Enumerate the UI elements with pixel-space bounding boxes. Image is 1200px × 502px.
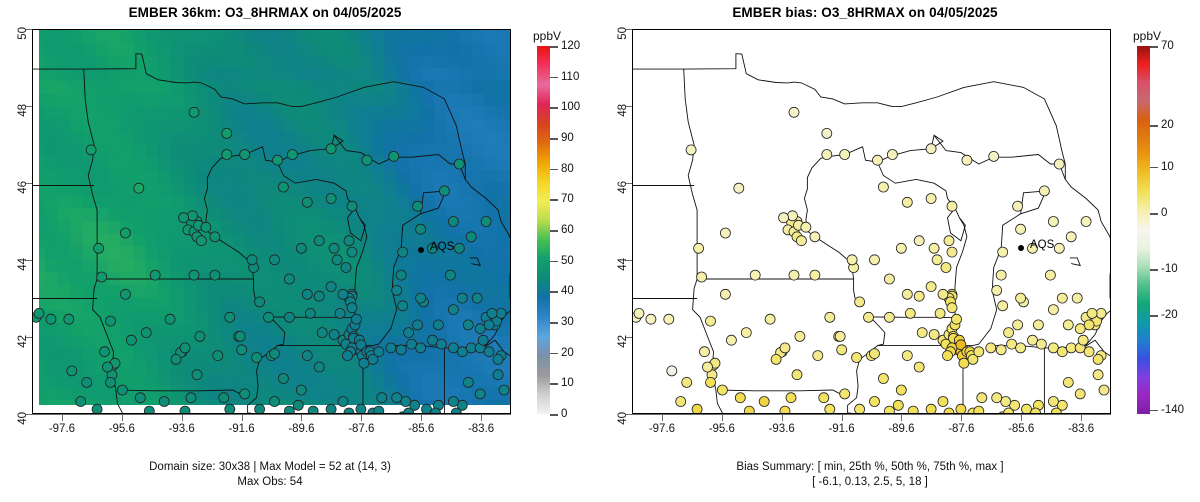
right-colorbar: ppbV 7020100-10-20-140 <box>1133 29 1200 414</box>
colorbar-tick-label: 20 <box>1161 119 1174 131</box>
aqs-station-marker <box>344 408 354 413</box>
aqs-station-marker <box>134 183 144 193</box>
x-tick-label: -91.6 <box>828 423 854 435</box>
aqs-station-marker <box>225 404 235 413</box>
x-tick-label: -83.6 <box>468 423 494 435</box>
aqs-station-marker <box>448 217 458 227</box>
panel-model-bias: EMBER bias: O3_8HRMAX on 04/05/2025 4042… <box>600 0 1200 502</box>
state-boundary <box>270 317 285 346</box>
aqs-station-marker <box>210 270 220 280</box>
right-panel-title: EMBER bias: O3_8HRMAX on 04/05/2025 <box>600 5 1130 20</box>
colorbar-tick <box>1150 46 1158 48</box>
aqs-station-marker <box>864 312 874 322</box>
aqs-station-marker <box>825 312 835 322</box>
aqs-station-marker <box>1039 186 1049 196</box>
aqs-station-marker <box>457 293 467 303</box>
aqs-station-marker <box>686 145 696 155</box>
aqs-station-marker <box>703 362 713 372</box>
aqs-station-marker <box>487 308 497 318</box>
aqs-station-marker <box>398 247 408 257</box>
aqs-station-marker <box>64 314 74 324</box>
aqs-station-marker <box>422 404 432 413</box>
aqs-station-marker <box>1057 293 1067 303</box>
aqs-station-marker <box>1028 335 1038 345</box>
right-aqs-legend-dot <box>1018 245 1024 251</box>
y-tick-label: 44 <box>617 258 629 271</box>
aqs-station-marker <box>947 201 957 211</box>
x-tick-label: -89.6 <box>888 423 914 435</box>
x-tick-label: -89.6 <box>288 423 314 435</box>
aqs-station-marker <box>1084 347 1094 357</box>
aqs-station-marker <box>801 222 811 232</box>
aqs-station-marker <box>932 255 942 265</box>
aqs-station-marker <box>219 393 229 403</box>
x-tick-label: -91.6 <box>228 423 254 435</box>
aqs-station-marker <box>222 128 232 138</box>
aqs-station-marker <box>835 331 845 341</box>
aqs-station-marker <box>974 406 984 413</box>
right-plot-area: AQS <box>632 29 1111 414</box>
aqs-station-marker <box>499 385 509 395</box>
aqs-station-marker <box>416 343 426 353</box>
aqs-station-marker <box>873 155 883 165</box>
colorbar-tick-label: 110 <box>561 71 579 83</box>
aqs-station-marker <box>314 362 324 372</box>
aqs-station-marker <box>448 343 458 353</box>
aqs-station-marker <box>840 389 850 399</box>
aqs-station-marker <box>235 331 245 341</box>
left-plot-area: AQS <box>32 29 511 414</box>
aqs-station-marker <box>92 404 102 413</box>
aqs-station-marker <box>302 351 312 361</box>
aqs-station-marker <box>878 374 888 384</box>
aqs-station-marker <box>825 404 835 413</box>
y-tick-label: 42 <box>617 335 629 348</box>
x-tick-label: -95.6 <box>109 423 135 435</box>
aqs-station-marker <box>493 354 503 364</box>
aqs-station-marker <box>347 303 357 313</box>
aqs-station-marker <box>255 404 265 413</box>
aqs-station-marker <box>789 270 799 280</box>
y-tick-label: 44 <box>17 258 29 271</box>
y-tick-label: 50 <box>617 27 629 40</box>
aqs-station-marker <box>466 343 476 353</box>
aqs-station-marker <box>284 274 294 284</box>
aqs-station-marker <box>926 282 936 292</box>
aqs-station-marker <box>352 314 362 324</box>
aqs-station-marker <box>247 255 257 265</box>
aqs-station-marker <box>634 308 644 318</box>
x-tick <box>301 414 302 421</box>
aqs-station-marker <box>100 347 110 357</box>
colorbar-tick <box>550 46 558 48</box>
aqs-station-marker <box>914 362 924 372</box>
aqs-station-marker <box>908 406 918 413</box>
aqs-station-marker <box>1081 217 1091 227</box>
aqs-station-marker <box>974 347 984 357</box>
colorbar-tick-label: -20 <box>1161 309 1178 321</box>
aqs-station-marker <box>237 345 247 355</box>
aqs-station-marker <box>796 236 806 246</box>
left-aqs-legend-label: AQS <box>430 241 454 253</box>
aqs-station-marker <box>855 297 865 307</box>
colorbar-tick-label: 10 <box>561 377 574 389</box>
aqs-station-marker <box>120 228 130 238</box>
aqs-station-marker <box>941 263 951 273</box>
aqs-station-marker <box>786 393 796 403</box>
x-tick-label: -93.6 <box>169 423 195 435</box>
aqs-station-marker <box>771 354 781 364</box>
colorbar-tick-label: 30 <box>561 316 574 328</box>
aqs-station-marker <box>1075 389 1085 399</box>
left-colorbar-gradient <box>537 46 550 414</box>
aqs-station-marker <box>210 232 220 242</box>
x-tick <box>842 414 843 421</box>
aqs-station-marker <box>448 305 458 315</box>
aqs-station-marker <box>720 289 730 299</box>
aqs-station-marker <box>1013 201 1023 211</box>
right-aqs-legend-label: AQS <box>1030 239 1054 251</box>
aqs-station-marker <box>902 289 912 299</box>
aqs-station-marker <box>436 339 446 349</box>
right-x-axis: -97.6-95.6-93.6-91.6-89.6-87.6-85.6-83.6 <box>632 414 1111 448</box>
aqs-station-marker <box>884 406 894 413</box>
aqs-station-marker <box>884 274 894 284</box>
aqs-station-marker <box>264 312 274 322</box>
aqs-station-marker <box>837 345 847 355</box>
aqs-station-marker <box>302 197 312 207</box>
aqs-station-marker <box>189 107 199 117</box>
x-tick-label: -83.6 <box>1068 423 1094 435</box>
aqs-station-marker <box>326 194 336 204</box>
aqs-station-marker <box>457 347 467 357</box>
aqs-station-marker <box>296 385 306 395</box>
aqs-station-marker <box>1016 224 1026 234</box>
aqs-station-marker <box>293 400 303 410</box>
aqs-station-marker <box>213 351 223 361</box>
aqs-station-marker <box>150 270 160 280</box>
colorbar-tick <box>550 230 558 232</box>
aqs-station-marker <box>392 285 402 295</box>
aqs-station-marker <box>428 335 438 345</box>
aqs-station-marker <box>287 150 297 160</box>
right-colorbar-ticks: 7020100-10-20-140 <box>1150 46 1199 414</box>
aqs-station-marker <box>870 397 880 407</box>
aqs-station-marker <box>463 320 473 330</box>
aqs-station-marker <box>308 406 318 413</box>
x-tick <box>1021 414 1022 421</box>
aqs-station-marker <box>914 291 924 301</box>
aqs-station-marker <box>314 236 324 246</box>
aqs-station-marker <box>893 400 903 410</box>
left-colorbar-unit: ppbV <box>533 29 561 43</box>
x-tick <box>122 414 123 421</box>
x-tick <box>182 414 183 421</box>
aqs-station-marker <box>326 404 336 413</box>
aqs-station-marker <box>144 406 154 413</box>
aqs-station-marker <box>1075 324 1085 334</box>
aqs-station-marker <box>475 389 485 399</box>
aqs-station-marker <box>1036 339 1046 349</box>
aqs-station-marker <box>329 330 339 340</box>
aqs-station-marker <box>314 291 324 301</box>
aqs-station-marker <box>810 270 820 280</box>
aqs-station-marker <box>338 289 348 299</box>
aqs-station-marker <box>926 144 936 154</box>
colorbar-tick-label: 70 <box>561 193 574 205</box>
aqs-station-marker <box>1045 270 1055 280</box>
colorbar-tick-label: 0 <box>561 408 567 420</box>
aqs-station-marker <box>386 343 396 353</box>
y-tick-label: 40 <box>17 412 29 425</box>
colorbar-tick <box>550 261 558 263</box>
aqs-station-marker <box>938 397 948 407</box>
aqs-station-marker <box>225 312 235 322</box>
aqs-station-marker <box>106 316 116 326</box>
aqs-station-marker <box>813 351 823 361</box>
colorbar-tick-label: -140 <box>1161 404 1184 416</box>
aqs-station-marker <box>496 308 506 318</box>
aqs-station-marker <box>998 301 1008 311</box>
aqs-station-marker <box>1063 377 1073 387</box>
aqs-station-marker <box>433 320 443 330</box>
aqs-station-marker <box>94 243 104 253</box>
aqs-station-marker <box>935 308 945 318</box>
aqs-station-marker <box>720 228 730 238</box>
aqs-station-marker <box>996 270 1006 280</box>
aqs-station-marker <box>959 358 969 368</box>
aqs-station-marker <box>305 308 315 318</box>
aqs-station-marker <box>759 397 769 407</box>
aqs-station-marker <box>792 370 802 380</box>
aqs-station-marker <box>463 377 473 387</box>
aqs-station-marker <box>1096 308 1106 318</box>
x-tick <box>481 414 482 421</box>
right-map-overlay <box>633 30 1110 413</box>
aqs-station-marker <box>1093 354 1103 364</box>
colorbar-tick <box>550 138 558 140</box>
aqs-station-marker <box>270 255 280 265</box>
aqs-station-marker <box>296 243 306 253</box>
aqs-station-marker <box>795 331 805 341</box>
aqs-station-marker <box>992 393 1002 403</box>
aqs-station-marker <box>998 247 1008 257</box>
left-y-axis: 404244464850 <box>0 29 32 414</box>
aqs-station-marker <box>1007 339 1017 349</box>
aqs-station-marker <box>252 353 262 363</box>
aqs-station-marker <box>359 358 369 368</box>
aqs-station-marker <box>1004 328 1014 338</box>
aqs-station-marker <box>284 406 294 413</box>
aqs-station-marker <box>1033 320 1043 330</box>
aqs-station-marker <box>195 331 205 341</box>
state-boundary <box>278 162 356 208</box>
x-tick <box>421 414 422 421</box>
aqs-station-marker <box>46 314 56 324</box>
aqs-station-marker <box>870 349 880 359</box>
left-caption-maxobs: Max Obs: 54 <box>0 476 540 488</box>
y-tick-label: 42 <box>17 335 29 348</box>
aqs-station-marker <box>106 377 116 387</box>
aqs-station-marker <box>326 282 336 292</box>
aqs-station-marker <box>734 183 744 193</box>
aqs-station-marker <box>201 222 211 232</box>
aqs-station-marker <box>270 397 280 407</box>
aqs-station-marker <box>1016 343 1026 353</box>
aqs-station-marker <box>159 397 169 407</box>
state-boundary <box>230 135 465 179</box>
x-tick <box>62 414 63 421</box>
x-tick <box>961 414 962 421</box>
aqs-station-marker <box>317 328 327 338</box>
aqs-station-marker <box>278 374 288 384</box>
aqs-station-marker <box>750 270 760 280</box>
aqs-station-marker <box>192 370 202 380</box>
aqs-station-marker <box>847 255 857 265</box>
aqs-station-marker <box>952 314 962 324</box>
aqs-station-marker <box>189 270 199 280</box>
aqs-station-marker <box>493 370 503 380</box>
aqs-station-marker <box>717 385 727 395</box>
aqs-station-marker <box>789 107 799 117</box>
aqs-station-marker <box>179 213 189 223</box>
aqs-station-marker <box>347 247 357 257</box>
y-tick-label: 46 <box>17 181 29 194</box>
colorbar-tick <box>1150 213 1158 215</box>
aqs-station-marker <box>822 150 832 160</box>
aqs-station-marker <box>165 314 175 324</box>
colorbar-tick <box>550 199 558 201</box>
aqs-station-marker <box>1066 343 1076 353</box>
aqs-station-marker <box>962 155 972 165</box>
aqs-station-marker <box>938 289 948 299</box>
x-tick-label: -87.6 <box>948 423 974 435</box>
aqs-station-marker <box>667 366 677 376</box>
aqs-station-marker <box>706 316 716 326</box>
aqs-station-marker <box>34 308 44 318</box>
x-tick-label: -85.6 <box>1008 423 1034 435</box>
aqs-station-marker <box>914 236 924 246</box>
aqs-station-marker <box>905 308 915 318</box>
aqs-station-marker <box>389 151 399 161</box>
aqs-station-marker <box>240 389 250 399</box>
aqs-station-marker <box>240 150 250 160</box>
y-tick-label: 48 <box>17 104 29 117</box>
colorbar-tick <box>1150 269 1158 271</box>
x-tick <box>242 414 243 421</box>
x-tick <box>722 414 723 421</box>
colorbar-tick <box>550 107 558 109</box>
aqs-station-marker <box>676 397 686 407</box>
left-caption-domain: Domain size: 30x38 | Max Model = 52 at (… <box>0 461 540 473</box>
x-tick-label: -87.6 <box>348 423 374 435</box>
aqs-station-marker <box>180 406 190 413</box>
x-tick <box>662 414 663 421</box>
x-tick-label: -97.6 <box>49 423 75 435</box>
aqs-station-marker <box>1048 217 1058 227</box>
aqs-station-marker <box>1001 397 1011 407</box>
aqs-station-marker <box>694 243 704 253</box>
left-colorbar: ppbV 1201101009080706050403020100 <box>533 29 597 414</box>
figure-root: EMBER 36km: O3_8HRMAX on 04/05/2025 4042… <box>0 0 1200 502</box>
aqs-station-marker <box>896 243 906 253</box>
aqs-station-marker <box>284 312 294 322</box>
aqs-station-marker <box>413 201 423 211</box>
aqs-station-marker <box>700 347 710 357</box>
right-caption-biasvalues: [ -6.1, 0.13, 2.5, 5, 18 ] <box>600 476 1140 488</box>
aqs-station-marker <box>103 362 113 372</box>
aqs-station-marker <box>377 393 387 403</box>
aqs-station-marker <box>996 345 1006 355</box>
x-tick <box>361 414 362 421</box>
aqs-station-marker <box>416 293 426 303</box>
aqs-station-marker <box>454 159 464 169</box>
aqs-station-marker <box>445 270 455 280</box>
aqs-station-marker <box>186 393 196 403</box>
colorbar-tick-label: 120 <box>561 40 580 52</box>
aqs-station-marker <box>374 347 384 357</box>
aqs-station-marker <box>356 404 366 413</box>
right-caption-biassummary: Bias Summary: [ min, 25th %, 50th %, 75t… <box>600 461 1140 473</box>
aqs-station-marker <box>697 272 707 282</box>
colorbar-tick <box>550 77 558 79</box>
left-x-axis-line <box>32 414 511 415</box>
aqs-station-marker <box>706 377 716 387</box>
aqs-station-marker <box>478 335 488 345</box>
colorbar-tick <box>1150 410 1158 412</box>
aqs-station-marker <box>86 145 96 155</box>
aqs-station-marker <box>188 211 198 221</box>
aqs-station-marker <box>126 335 136 345</box>
aqs-station-marker <box>989 151 999 161</box>
colorbar-tick-label: 90 <box>561 132 574 144</box>
aqs-station-marker <box>416 224 426 234</box>
aqs-station-marker <box>141 328 151 338</box>
colorbar-tick <box>1150 315 1158 317</box>
aqs-station-marker <box>454 243 464 253</box>
aqs-station-marker <box>780 406 790 413</box>
aqs-station-marker <box>819 393 829 403</box>
aqs-station-marker <box>735 393 745 403</box>
y-tick-label: 40 <box>617 412 629 425</box>
aqs-station-marker <box>347 201 357 211</box>
aqs-station-marker <box>67 366 77 376</box>
aqs-station-marker <box>1084 320 1094 330</box>
aqs-station-marker <box>413 320 423 330</box>
aqs-station-marker <box>326 144 336 154</box>
colorbar-tick-label: 20 <box>561 347 574 359</box>
aqs-station-marker <box>682 377 692 387</box>
aqs-station-marker <box>1078 335 1088 345</box>
aqs-station-marker <box>779 213 789 223</box>
aqs-station-marker <box>852 353 862 363</box>
aqs-station-marker <box>117 385 127 395</box>
aqs-station-marker <box>82 377 92 387</box>
aqs-station-marker <box>329 243 339 253</box>
aqs-station-marker <box>1054 243 1064 253</box>
aqs-station-marker <box>1048 397 1058 407</box>
right-y-axis: 404244464850 <box>600 29 632 414</box>
aqs-station-marker <box>992 285 1002 295</box>
aqs-station-marker <box>956 404 966 413</box>
aqs-station-marker <box>1066 232 1076 242</box>
aqs-station-marker <box>448 397 458 407</box>
aqs-station-marker <box>1022 404 1032 413</box>
y-tick-label: 46 <box>617 181 629 194</box>
aqs-station-marker <box>926 194 936 204</box>
right-x-axis-line <box>632 414 1111 415</box>
aqs-station-marker <box>947 247 957 257</box>
